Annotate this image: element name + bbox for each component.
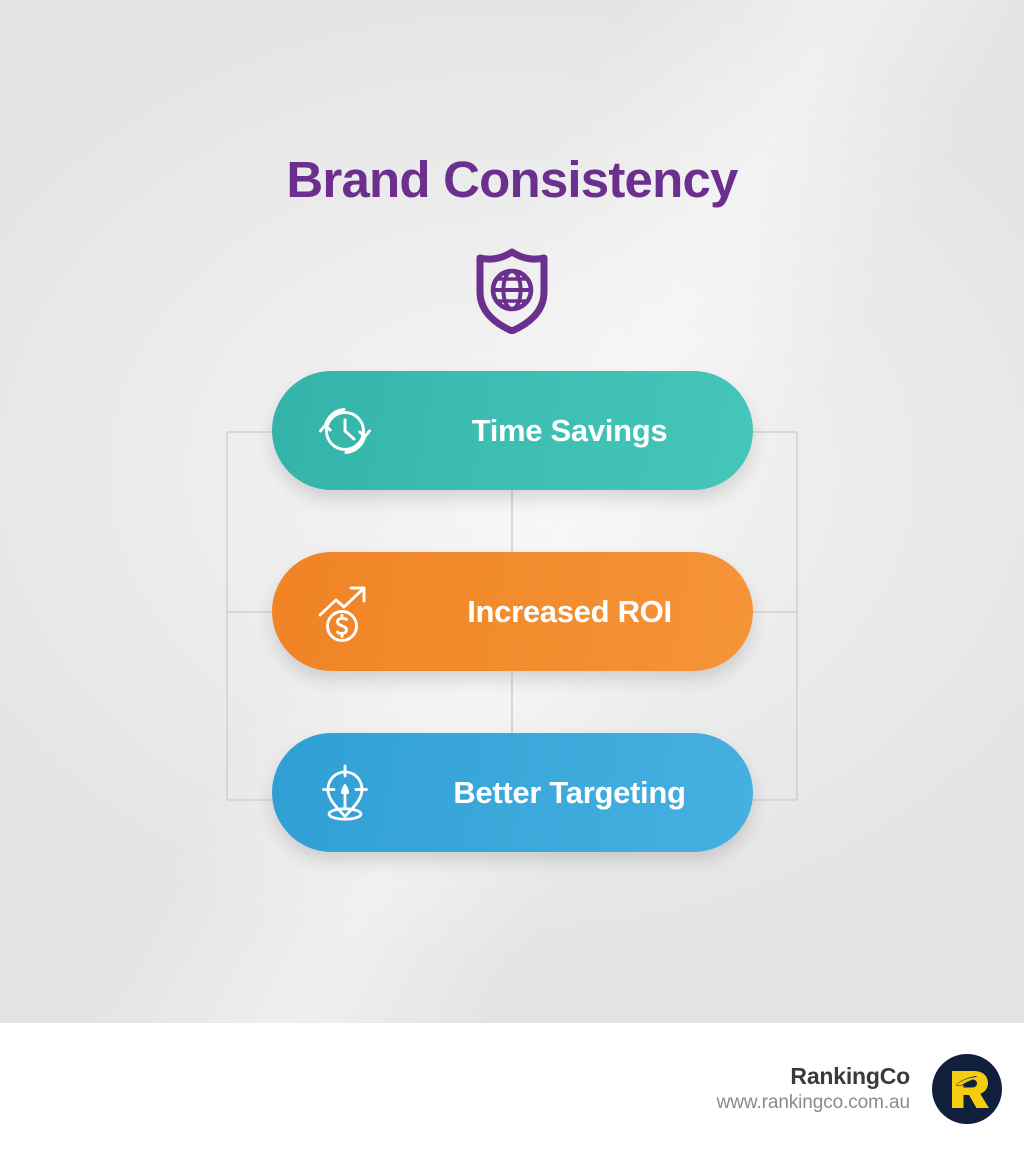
footer-bar: RankingCo www.rankingco.com.au bbox=[0, 1023, 1024, 1154]
infographic-poster: Brand Consistency Time Savings bbox=[0, 0, 1024, 1154]
benefit-label: Time Savings bbox=[412, 413, 727, 449]
brand-website[interactable]: www.rankingco.com.au bbox=[717, 1091, 910, 1115]
benefit-pill-increased-roi[interactable]: Increased ROI bbox=[272, 552, 753, 671]
footer-text-block: RankingCo www.rankingco.com.au bbox=[717, 1062, 910, 1116]
rankingco-r-logo[interactable] bbox=[932, 1054, 1002, 1124]
brand-name: RankingCo bbox=[717, 1062, 910, 1091]
target-pin-icon bbox=[314, 762, 376, 824]
clock-refresh-icon bbox=[314, 400, 376, 462]
benefit-label: Increased ROI bbox=[412, 594, 727, 630]
footer-brand-group: RankingCo www.rankingco.com.au bbox=[717, 1023, 1002, 1154]
page-title: Brand Consistency bbox=[0, 150, 1024, 209]
benefit-pill-better-targeting[interactable]: Better Targeting bbox=[272, 733, 753, 852]
shield-globe-icon bbox=[474, 248, 550, 334]
benefit-label: Better Targeting bbox=[412, 775, 727, 811]
benefit-pill-time-savings[interactable]: Time Savings bbox=[272, 371, 753, 490]
trending-up-dollar-icon bbox=[314, 581, 376, 643]
